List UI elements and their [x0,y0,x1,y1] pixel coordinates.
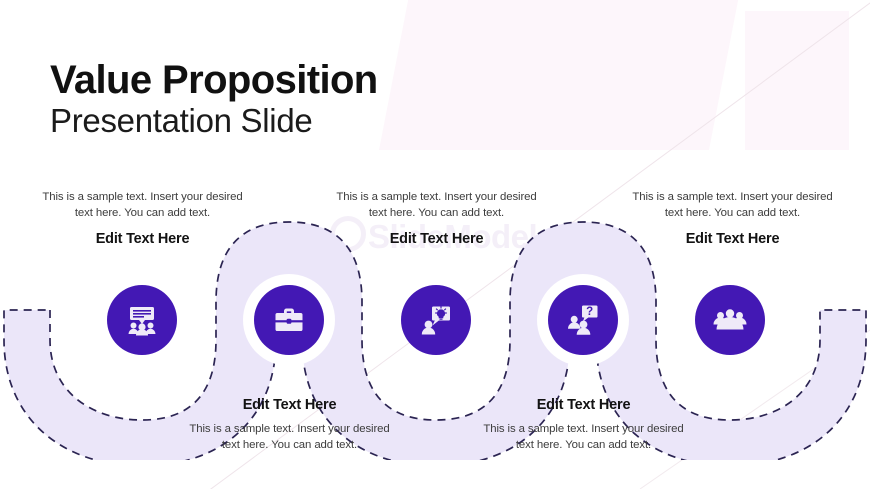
node-description-2: This is a sample text. Insert your desir… [182,422,397,453]
node-text-1: This is a sample text. Insert your desir… [35,190,250,249]
decor-shape-right [745,11,849,150]
node-text-4: Edit Text Here This is a sample text. In… [476,396,691,453]
node-heading-1[interactable]: Edit Text Here [35,230,250,249]
node-heading-5[interactable]: Edit Text Here [625,230,840,249]
briefcase-icon [271,302,307,338]
node-description-4: This is a sample text. Insert your desir… [476,422,691,453]
presentation-board-audience-icon [123,301,161,339]
people-question-bubble-icon: ? [565,302,601,338]
node-circle-2[interactable] [254,285,324,355]
svg-text:?: ? [586,306,593,318]
node-description-1: This is a sample text. Insert your desir… [35,190,250,221]
node-text-3: This is a sample text. Insert your desir… [329,190,544,249]
decor-shape-left [379,0,739,150]
node-circle-1[interactable] [107,285,177,355]
node-description-3: This is a sample text. Insert your desir… [329,190,544,221]
team-group-icon [711,301,749,339]
person-idea-lightbulb-icon [418,302,454,338]
title-primary: Value Proposition [50,60,378,102]
node-circle-4[interactable]: ? [548,285,618,355]
node-text-2: Edit Text Here This is a sample text. In… [182,396,397,453]
node-circle-5[interactable] [695,285,765,355]
node-description-5: This is a sample text. Insert your desir… [625,190,840,221]
node-heading-2[interactable]: Edit Text Here [182,396,397,415]
page-title: Value Proposition Presentation Slide [50,60,378,139]
node-text-5: This is a sample text. Insert your desir… [625,190,840,249]
node-circle-3[interactable] [401,285,471,355]
title-secondary: Presentation Slide [50,102,378,140]
node-heading-4[interactable]: Edit Text Here [476,396,691,415]
node-heading-3[interactable]: Edit Text Here [329,230,544,249]
slide-canvas: SlideModel Value Proposition Presentatio… [0,0,870,489]
